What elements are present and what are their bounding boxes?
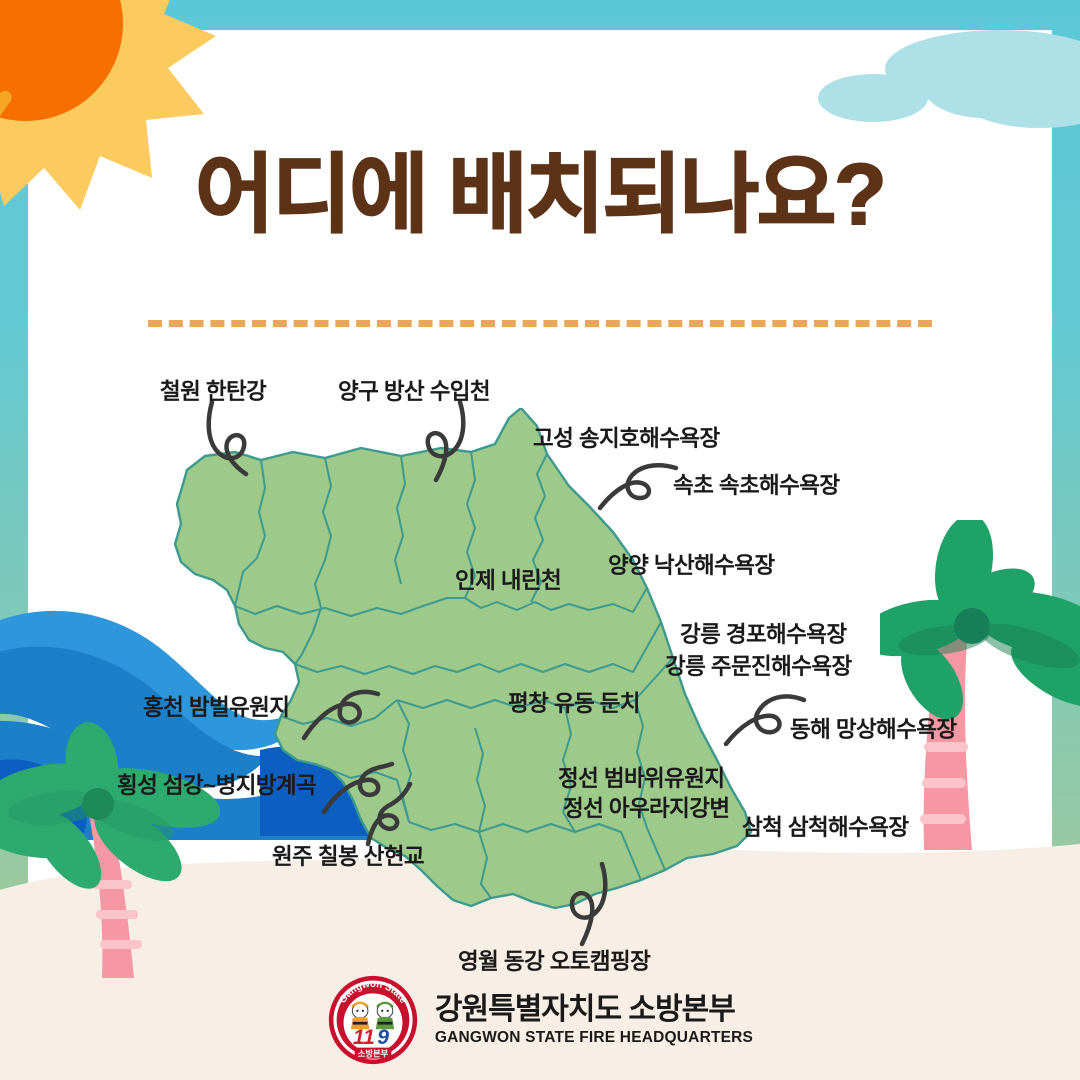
org-name-english: GANGWON STATE FIRE HEADQUARTERS	[435, 1029, 753, 1047]
pointer-line-yanggu	[408, 400, 478, 485]
map-label-wonju: 원주 칠봉 산현교	[272, 843, 424, 870]
footer-org-text: 강원특별자치도 소방본부 GANGWON STATE FIRE HEADQUAR…	[435, 993, 753, 1048]
map-label-hongcheon: 홍천 밤벌유원지	[143, 694, 289, 721]
map-label-donghae: 동해 망상해수욕장	[790, 716, 956, 743]
emblem-bottom-text: 소방본부	[358, 1048, 389, 1058]
palm-tree-right-group	[880, 520, 1080, 880]
gangwon-fire-hq-emblem: 11 9 Gangwon State 소방본부	[327, 974, 419, 1066]
page-title: 어디에 배치되나요?	[0, 152, 1080, 238]
map-label-jeongseon-auraji: 정선 아우라지강변	[563, 795, 729, 822]
pointer-line-yeongwol	[560, 862, 622, 950]
map-label-jeongseon-beombawi: 정선 범바위유원지	[558, 765, 724, 792]
map-label-pyeongchang: 평창 유동 둔치	[508, 690, 640, 717]
map-label-inje: 인제 내린천	[455, 567, 561, 594]
cloud-icon	[818, 74, 928, 122]
map-label-sokcho: 속초 속초해수욕장	[673, 472, 839, 499]
map-label-gangneung-gyeongpo: 강릉 경포해수욕장	[680, 621, 846, 648]
pointer-line-sokcho	[590, 460, 680, 518]
title-divider	[148, 320, 932, 327]
poster-canvas: 어디에 배치되나요?	[0, 0, 1080, 1080]
pointer-line-cheorwon	[198, 400, 268, 480]
footer-bar: 11 9 Gangwon State 소방본부 강원특별자치도 소방본부 GAN…	[0, 974, 1080, 1066]
map-label-gangneung-jumunjin: 강릉 주문진해수욕장	[665, 653, 852, 680]
cloud-icon	[925, 60, 1045, 118]
emblem-number-9: 9	[377, 1026, 389, 1049]
pointer-line-hongcheon	[300, 688, 382, 744]
map-label-cheorwon: 철원 한탄강	[160, 378, 266, 405]
map-label-yeongwol: 영월 동강 오토캠핑장	[458, 948, 650, 975]
map-label-samcheok: 삼척 삼척해수욕장	[742, 814, 908, 841]
palm-tree-icon	[880, 520, 1080, 880]
map-label-yanggu: 양구 방산 수입천	[338, 378, 490, 405]
emblem-number-11: 11	[353, 1026, 375, 1049]
map-label-hoengseong: 횡성 섬강~병지방계곡	[117, 772, 316, 799]
map-label-yangyang: 양양 낙산해수욕장	[608, 552, 774, 579]
org-name-korean: 강원특별자치도 소방본부	[435, 993, 735, 1028]
emblem-icon: 11 9 Gangwon State 소방본부	[327, 974, 419, 1066]
pointer-line-wonju	[360, 782, 424, 848]
map-label-goseong: 고성 송지호해수욕장	[533, 425, 720, 452]
